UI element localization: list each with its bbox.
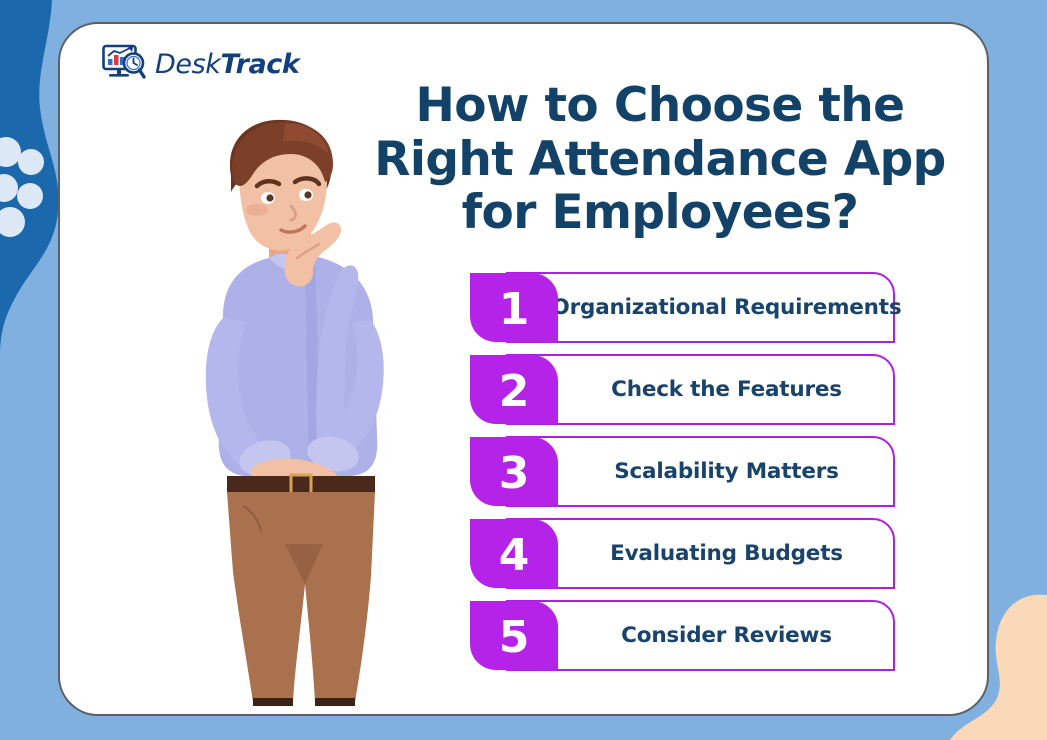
thinking-businessman-illustration: [165, 106, 425, 706]
step-number: 1: [499, 288, 530, 332]
step-card[interactable]: Scalability Matters: [506, 436, 895, 507]
step-number: 4: [499, 534, 530, 578]
step-card[interactable]: Evaluating Budgets: [506, 518, 895, 589]
brand-wordmark: DeskTrack: [155, 49, 299, 80]
step-number: 2: [499, 370, 530, 414]
pants: [227, 492, 375, 702]
step-badge: 4: [470, 519, 558, 588]
list-item[interactable]: Organizational Requirements 1: [470, 272, 895, 343]
sock-left: [253, 698, 293, 706]
step-label: Evaluating Budgets: [558, 541, 843, 566]
sock-right: [315, 698, 355, 706]
step-badge: 2: [470, 355, 558, 424]
pupil-left: [266, 194, 273, 201]
brand-name-bold: Track: [221, 49, 300, 80]
step-number: 3: [499, 452, 530, 496]
list-item[interactable]: Scalability Matters 3: [470, 436, 895, 507]
main-card: DeskTrack How to Choose the Right Attend…: [58, 22, 989, 716]
step-label: Scalability Matters: [562, 459, 839, 484]
list-item[interactable]: Evaluating Budgets 4: [470, 518, 895, 589]
cheek: [246, 204, 268, 216]
list-item[interactable]: Consider Reviews 5: [470, 600, 895, 671]
step-card[interactable]: Organizational Requirements: [506, 272, 895, 343]
belt: [227, 476, 375, 493]
step-badge: 3: [470, 437, 558, 506]
step-card[interactable]: Consider Reviews: [506, 600, 895, 671]
decor-dot: [17, 183, 43, 209]
step-label: Check the Features: [559, 377, 842, 402]
step-badge: 5: [470, 601, 558, 670]
monitor-chart-clock-icon: [102, 44, 148, 84]
step-label: Organizational Requirements: [500, 295, 902, 320]
list-item[interactable]: Check the Features 2: [470, 354, 895, 425]
decor-dot: [18, 149, 44, 175]
step-label: Consider Reviews: [569, 623, 832, 648]
step-badge: 1: [470, 273, 558, 342]
step-card[interactable]: Check the Features: [506, 354, 895, 425]
pupil-right: [304, 191, 311, 198]
brand-name-light: Desk: [155, 49, 221, 80]
brand-logo[interactable]: DeskTrack: [102, 44, 299, 84]
step-number: 5: [499, 616, 530, 660]
page-title: How to Choose the Right Attendance App f…: [360, 79, 960, 240]
steps-list: Organizational Requirements 1 Check the …: [470, 272, 895, 682]
